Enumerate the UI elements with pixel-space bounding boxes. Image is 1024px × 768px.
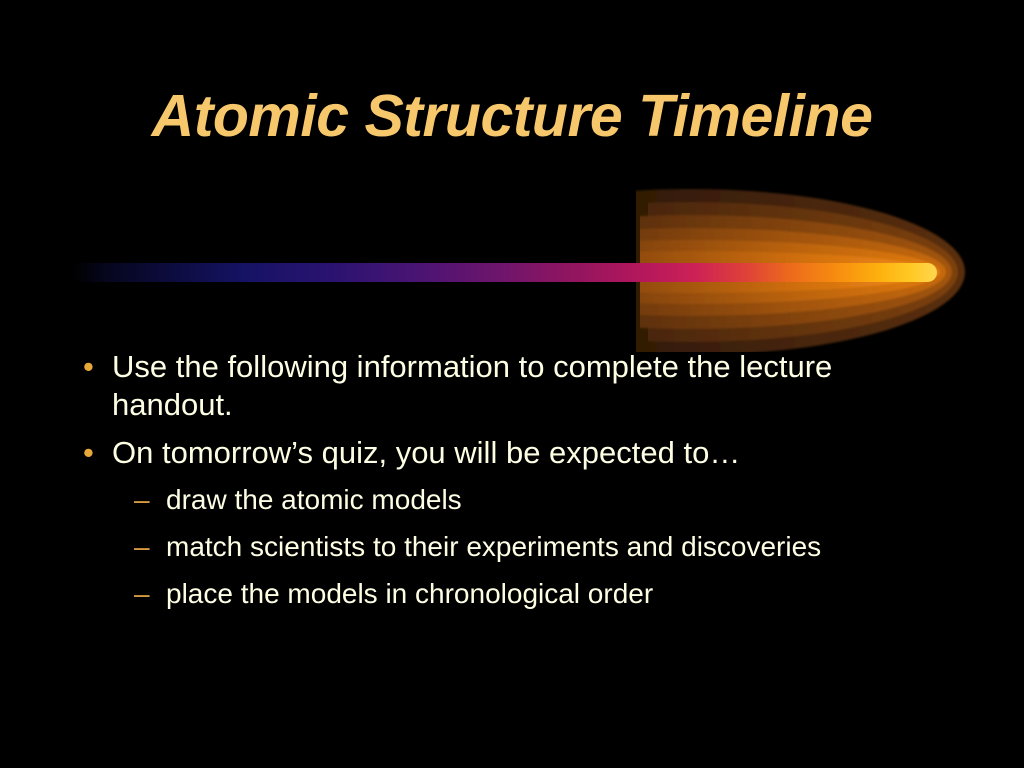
list-item-text: draw the atomic models (166, 482, 926, 517)
list-item-text: place the models in chronological order (166, 576, 926, 611)
halo-layer-5 (428, 215, 952, 329)
list-item: • On tomorrow’s quiz, you will be expect… (78, 434, 978, 472)
list-item: – place the models in chronological orde… (78, 576, 978, 611)
comet-core-beam (72, 263, 937, 282)
halo-layer-outer (415, 189, 965, 352)
comet-beam-graphic (0, 176, 1024, 352)
list-item: – draw the atomic models (78, 482, 978, 517)
halo-layer-4 (434, 228, 946, 316)
halo-layer-group (415, 189, 965, 352)
halo-layer-6 (422, 202, 958, 342)
bullet-dash-icon: – (132, 482, 166, 517)
list-item: • Use the following information to compl… (78, 348, 978, 424)
bullet-list: • Use the following information to compl… (78, 348, 978, 623)
list-item-text: match scientists to their experiments an… (166, 529, 926, 564)
list-item: – match scientists to their experiments … (78, 529, 978, 564)
bullet-dash-icon: – (132, 576, 166, 611)
bullet-dash-icon: – (132, 529, 166, 564)
presentation-slide: Atomic Structure Timeline (0, 0, 1024, 768)
bullet-dot-icon: • (78, 348, 112, 386)
page-title: Atomic Structure Timeline (0, 86, 1024, 148)
halo-layer-2 (445, 251, 935, 293)
halo-layer-3 (440, 240, 940, 304)
list-item-text: Use the following information to complet… (112, 348, 912, 424)
list-item-text: On tomorrow’s quiz, you will be expected… (112, 434, 912, 472)
bullet-dot-icon: • (78, 434, 112, 472)
